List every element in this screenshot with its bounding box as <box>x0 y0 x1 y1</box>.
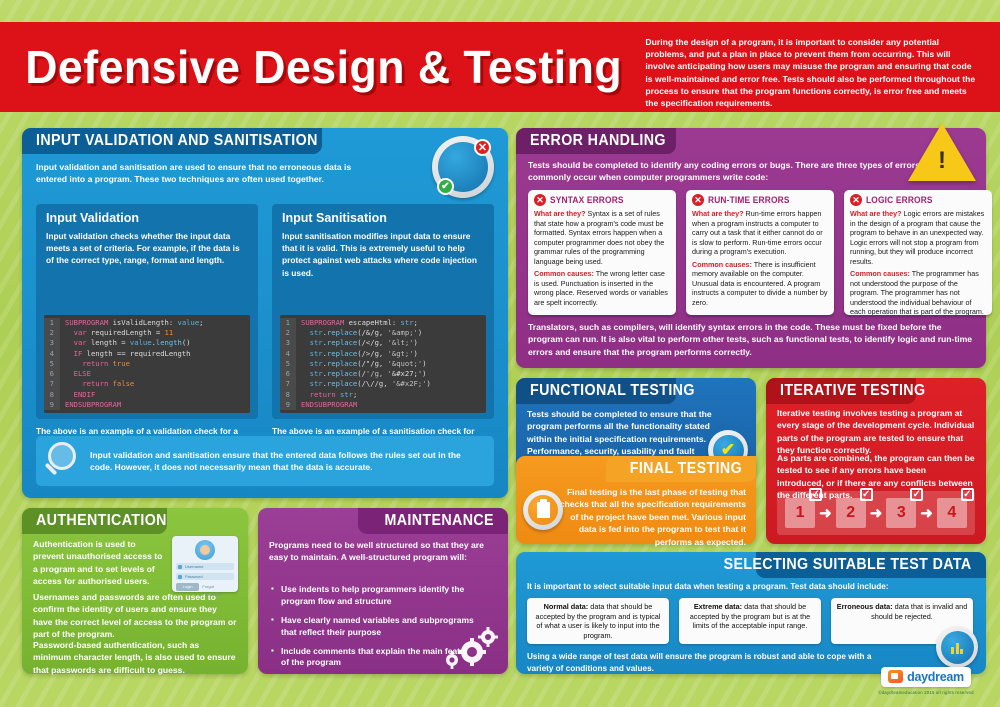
error-card-definition: What are they? Syntax is a set of rules … <box>534 209 670 269</box>
code-line: 7 return false <box>44 379 250 389</box>
input-sanitisation-heading: Input Sanitisation <box>272 204 494 230</box>
error-x-icon: ✕ <box>850 194 862 206</box>
code-line: 1SUBPROGRAM escapeHtml: str; <box>280 318 486 328</box>
code-line: 2 str.replace(/&/g, '&amp;') <box>280 328 486 338</box>
forgot-password-link[interactable]: Forgot Password? <box>202 583 234 599</box>
iterative-step: 4✓ <box>937 498 967 528</box>
brand-logo: daydream ©daydreameducation 2015 all rig… <box>866 667 986 696</box>
input-validation-sanitisation-title-tab: Input Validation And Sanitisation <box>22 128 322 154</box>
clipboard-icon <box>523 490 563 530</box>
code-block-validation: 1SUBPROGRAM isValidLength: value;2 var r… <box>44 315 250 413</box>
section-iterative-testing: Iterative Testing Iterative testing invo… <box>766 378 986 544</box>
arrow-right-icon: ➜ <box>920 506 933 521</box>
error-card-title: Run-time Errors <box>708 195 790 206</box>
password-field[interactable]: Password <box>176 573 234 580</box>
input-validation-heading: Input Validation <box>36 204 258 230</box>
code-line: 9ENDSUBPROGRAM <box>44 400 250 410</box>
check-box-icon: ✓ <box>910 488 923 501</box>
code-line: 4 IF length == requiredLength <box>44 349 250 359</box>
final-testing-body: Final testing is the last phase of testi… <box>554 486 746 548</box>
code-line: 3 str.replace(/</g, '&lt;') <box>280 338 486 348</box>
section-title: Input Validation And Sanitisation <box>36 132 318 150</box>
section-final-testing: Final Testing Final testing is the last … <box>516 456 756 544</box>
code-line: 8 ENDIF <box>44 390 250 400</box>
iterative-testing-title-tab: Iterative Testing <box>766 378 916 404</box>
code-line: 2 var requiredLength = 11 <box>44 328 250 338</box>
section-selecting-test-data: Selecting Suitable Test Data It is impor… <box>516 552 986 674</box>
section-title: Iterative Testing <box>780 382 925 400</box>
error-type-card: ✕Logic ErrorsWhat are they? Logic errors… <box>844 190 992 315</box>
code-line: 5 str.replace(/"/g, '&quot;') <box>280 359 486 369</box>
warning-triangle-icon: ! <box>908 123 976 181</box>
poster-root: Defensive Design & Testing During the de… <box>0 0 1000 707</box>
code-line: 3 var length = value.length() <box>44 338 250 348</box>
data-chart-icon <box>936 626 978 668</box>
maintenance-bullet: Use indents to help programmers identify… <box>271 584 483 608</box>
header-intro-text: During the design of a program, it is im… <box>641 22 1000 112</box>
arrow-right-icon: ➜ <box>819 506 832 521</box>
section-title: Selecting Suitable Test Data <box>724 556 972 574</box>
check-icon: ✔ <box>437 178 454 195</box>
error-card-list: ✕Syntax ErrorsWhat are they? Syntax is a… <box>528 190 992 315</box>
error-handling-title-tab: Error Handling <box>516 128 676 154</box>
authentication-paragraph-3: Password-based authentication, such as m… <box>33 639 237 676</box>
section-title: Authentication <box>36 512 167 530</box>
test-data-intro: It is important to select suitable input… <box>527 581 967 593</box>
check-box-icon: ✓ <box>961 488 974 501</box>
code-line: 1SUBPROGRAM isValidLength: value; <box>44 318 250 328</box>
card-input-validation: Input Validation Input validation checks… <box>36 204 258 419</box>
iterative-step: 1✓ <box>785 498 815 528</box>
maintenance-title-tab: Maintenance <box>358 508 508 534</box>
arrow-right-icon: ➜ <box>870 506 883 521</box>
code-line: 7 str.replace(/\//g, '&#x2F;') <box>280 379 486 389</box>
iterative-steps-diagram: 1✓➜2✓➜3✓➜4✓ <box>777 491 975 535</box>
test-data-footer: Using a wide range of test data will ens… <box>527 651 897 675</box>
code-line: 5 return true <box>44 359 250 369</box>
section-title: Final Testing <box>630 460 742 478</box>
error-handling-intro: Tests should be completed to identify an… <box>528 159 948 184</box>
error-card-causes: Common causes: The wrong letter case is … <box>534 269 670 310</box>
code-line: 8 return str; <box>280 390 486 400</box>
error-x-icon: ✕ <box>692 194 704 206</box>
final-testing-title-tab: Final Testing <box>606 456 756 482</box>
section-maintenance: Maintenance Programs need to be well str… <box>258 508 508 674</box>
poster-header: Defensive Design & Testing During the de… <box>0 22 1000 112</box>
input-validation-description: Input validation checks whether the inpu… <box>36 230 258 273</box>
gears-icon <box>430 622 500 670</box>
page-title: Defensive Design & Testing <box>0 22 622 112</box>
error-card-causes: Common causes: There is insufficient mem… <box>692 260 828 311</box>
check-box-icon: ✓ <box>809 488 822 501</box>
error-card-title: Syntax Errors <box>550 195 624 206</box>
authentication-paragraph-1: Authentication is used to prevent unauth… <box>33 538 163 588</box>
login-button[interactable]: Login <box>176 583 199 591</box>
error-handling-footer: Translators, such as compilers, will ide… <box>528 321 974 358</box>
test-data-title-tab: Selecting Suitable Test Data <box>756 552 986 578</box>
validation-callout-text: Input validation and sanitisation ensure… <box>90 449 494 474</box>
check-box-icon: ✓ <box>860 488 873 501</box>
logo-copyright: ©daydreameducation 2015 all rights reser… <box>866 690 986 695</box>
maintenance-intro: Programs need to be well structured so t… <box>269 539 491 564</box>
validation-shield-icon: ✕ ✔ <box>432 136 494 198</box>
test-data-card: Extreme data: data that should be accept… <box>679 598 821 644</box>
section-title: Functional Testing <box>530 382 695 400</box>
username-field[interactable]: Username <box>176 563 234 570</box>
validation-callout: Input validation and sanitisation ensure… <box>36 436 494 486</box>
logo-name: daydream <box>907 670 964 684</box>
code-line: 4 str.replace(/>/g, '&gt;') <box>280 349 486 359</box>
section-input-validation-sanitisation: Input Validation And Sanitisation Input … <box>22 128 508 498</box>
code-line: 6 ELSE <box>44 369 250 379</box>
section-authentication: Authentication Authentication is used to… <box>22 508 248 674</box>
iterative-step: 3✓ <box>886 498 916 528</box>
section-title: Error Handling <box>530 132 666 150</box>
test-data-card: Normal data: data that should be accepte… <box>527 598 669 644</box>
error-card-causes: Common causes: The programmer has not un… <box>850 269 986 315</box>
close-icon: ✕ <box>474 139 491 156</box>
user-avatar-icon <box>195 540 215 560</box>
section-title: Maintenance <box>385 512 494 530</box>
error-card-title: Logic Errors <box>866 195 933 206</box>
error-x-icon: ✕ <box>534 194 546 206</box>
functional-testing-title-tab: Functional Testing <box>516 378 676 404</box>
card-input-sanitisation: Input Sanitisation Input sanitisation mo… <box>272 204 494 419</box>
error-type-card: ✕Run-time ErrorsWhat are they? Run-time … <box>686 190 834 315</box>
login-form-illustration: Username Password Login Forgot Password? <box>172 536 238 592</box>
code-line: 9ENDSUBPROGRAM <box>280 400 486 410</box>
magnifier-icon <box>36 436 90 486</box>
logo-mark-icon <box>888 670 903 683</box>
input-sanitisation-description: Input sanitisation modifies input data t… <box>272 230 494 285</box>
iterative-testing-paragraph-1: Iterative testing involves testing a pro… <box>777 407 975 457</box>
error-card-definition: What are they? Logic errors are mistakes… <box>850 209 986 269</box>
error-card-definition: What are they? Run-time errors happen wh… <box>692 209 828 260</box>
code-block-sanitisation: 1SUBPROGRAM escapeHtml: str;2 str.replac… <box>280 315 486 413</box>
section-error-handling: Error Handling Tests should be completed… <box>516 128 986 368</box>
code-line: 6 str.replace(/'/g, '&#x27;') <box>280 369 486 379</box>
iterative-step: 2✓ <box>836 498 866 528</box>
error-type-card: ✕Syntax ErrorsWhat are they? Syntax is a… <box>528 190 676 315</box>
test-data-card-list: Normal data: data that should be accepte… <box>527 598 973 644</box>
input-validation-intro: Input validation and sanitisation are us… <box>36 161 376 186</box>
authentication-title-tab: Authentication <box>22 508 167 534</box>
